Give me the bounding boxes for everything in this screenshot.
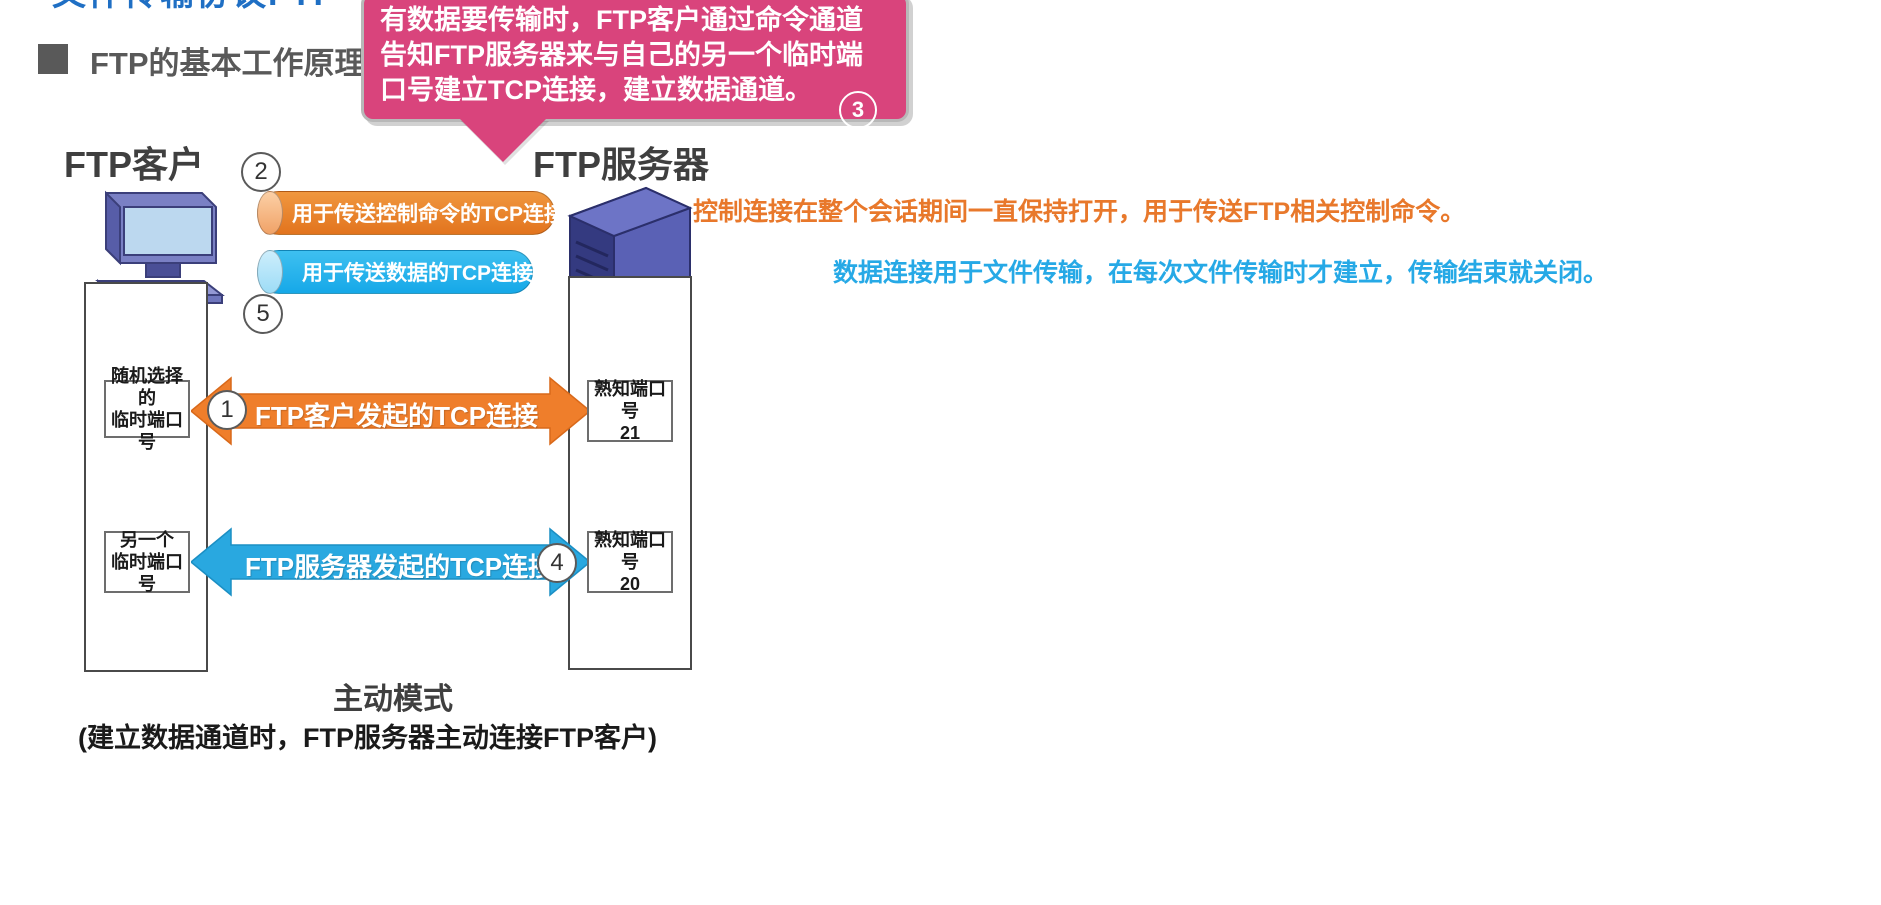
- section-bullet-icon: [38, 44, 68, 74]
- control-connection-label: 用于传送控制命令的TCP连接: [292, 198, 565, 228]
- port-line-2: 20: [620, 573, 640, 595]
- control-connection-note: 控制连接在整个会话期间一直保持打开，用于传送FTP相关控制命令。: [693, 192, 1465, 228]
- pill-cap-icon: [257, 250, 283, 294]
- pill-cap-icon: [257, 191, 283, 235]
- mode-description: (建立数据通道时，FTP服务器主动连接FTP客户): [78, 716, 657, 755]
- step-badge-4: 4: [537, 543, 577, 583]
- port-line-1: 另一个: [120, 529, 174, 551]
- orange-arrow-label: FTP客户发起的TCP连接: [255, 396, 538, 433]
- server-wellknown-port-box-21: 熟知端口号 21: [587, 380, 673, 442]
- client-title: FTP客户: [64, 136, 204, 188]
- mode-title: 主动模式: [333, 674, 453, 718]
- step-badge-1: 1: [207, 390, 247, 430]
- data-connection-pill: 用于传送数据的TCP连接: [257, 250, 533, 294]
- callout-bubble: 有数据要传输时，FTP客户通过命令通道 告知FTP服务器来与自己的另一个临时端 …: [361, 0, 909, 122]
- port-line-2: 临时端口号: [106, 551, 188, 595]
- callout-line-3: 口号建立TCP连接，建立数据通道。: [380, 73, 890, 108]
- step-badge-5: 5: [243, 294, 283, 334]
- server-lifeline: [568, 276, 692, 670]
- client-ephemeral-port-box-1: 随机选择的 临时端口号: [104, 380, 190, 438]
- step-badge-2: 2: [241, 152, 281, 192]
- data-connection-label: 用于传送数据的TCP连接: [302, 257, 533, 287]
- control-connection-pill: 用于传送控制命令的TCP连接: [257, 191, 555, 235]
- port-line-1: 熟知端口号: [589, 378, 671, 422]
- server-title: FTP服务器: [533, 136, 709, 188]
- callout-line-2: 告知FTP服务器来与自己的另一个临时端: [380, 38, 890, 73]
- callout-line-1: 有数据要传输时，FTP客户通过命令通道: [380, 3, 890, 38]
- port-line-2: 临时端口号: [106, 409, 188, 453]
- server-wellknown-port-box-20: 熟知端口号 20: [587, 531, 673, 593]
- step-badge-3: 3: [839, 91, 877, 129]
- section-title: FTP的基本工作原理: [90, 38, 366, 83]
- blue-arrow-label: FTP服务器发起的TCP连接: [245, 547, 554, 584]
- port-line-2: 21: [620, 422, 640, 444]
- client-ephemeral-port-box-2: 另一个 临时端口号: [104, 531, 190, 593]
- data-connection-note: 数据连接用于文件传输，在每次文件传输时才建立，传输结束就关闭。: [833, 253, 1608, 289]
- client-lifeline: [84, 282, 208, 672]
- port-line-1: 熟知端口号: [589, 529, 671, 573]
- port-line-1: 随机选择的: [106, 365, 188, 409]
